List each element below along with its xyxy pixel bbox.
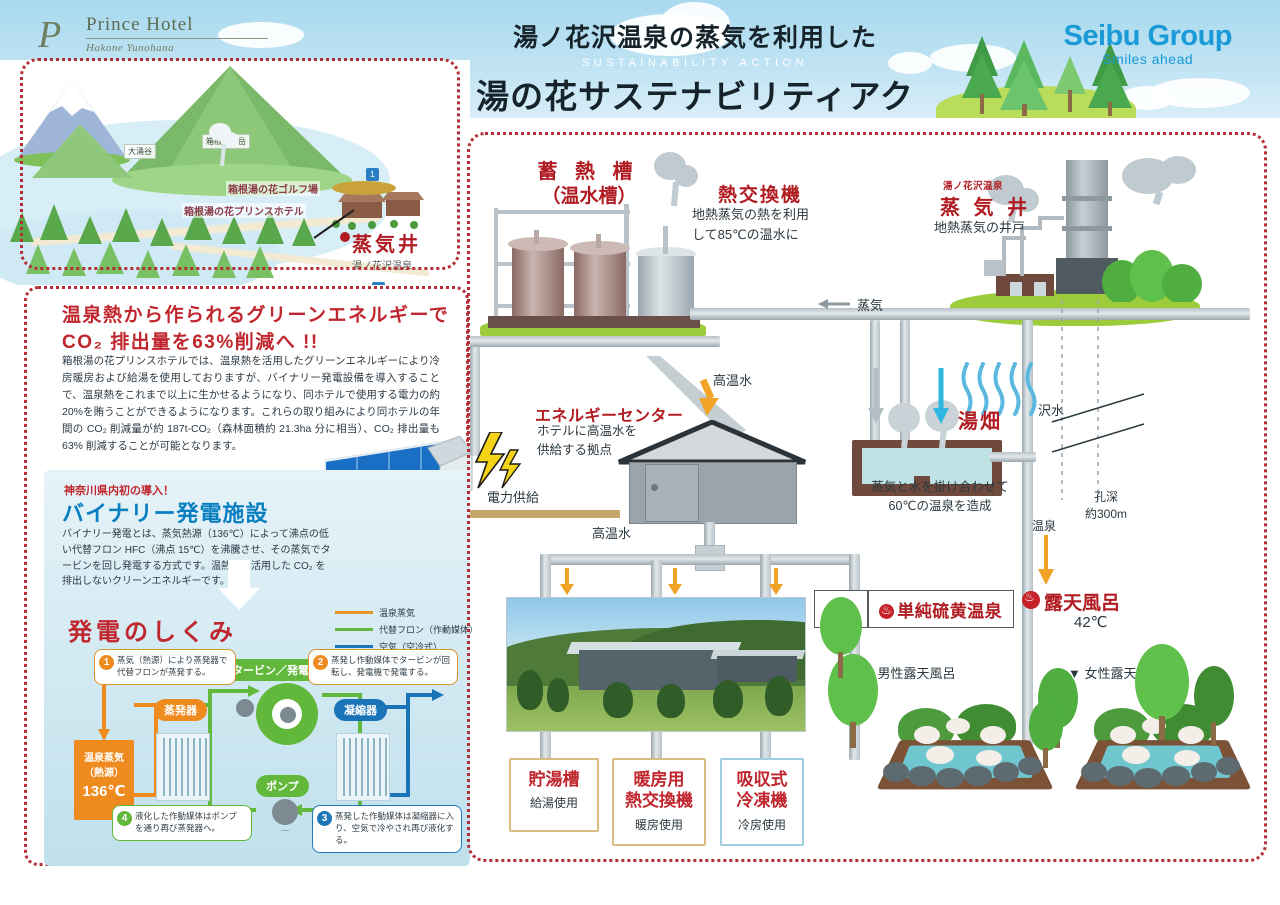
down-arrow-3-icon	[769, 584, 783, 595]
energy-center-sub-line-1: ホテルに高温水を	[537, 422, 637, 441]
title-subtitle-english: SUSTAINABILITY ACTION	[460, 57, 930, 69]
use-box-1-sub: 給湯使用	[511, 794, 597, 811]
tank-base	[488, 316, 700, 328]
binary-body-text: バイナリー発電とは、蒸気熱源（136℃）によって沸点の低い代替フロン HFC（沸…	[62, 527, 332, 590]
pump-icon	[264, 797, 298, 831]
down-arrow-stem	[228, 560, 250, 590]
prince-hotel-logo: P Prince Hotel Hakone Yunohana	[38, 14, 268, 56]
heat-exchanger-sub-line-2: して85℃の温水に	[692, 225, 809, 245]
cycle-step-4: 4 液化した作動媒体はポンプを通り再び蒸発器へ。	[112, 805, 252, 841]
energy-center-doorknob	[651, 484, 658, 491]
lightning-bolt-icon	[470, 432, 530, 490]
legend-label-steam: 温泉蒸気	[379, 606, 415, 619]
legend-swatch-steam	[335, 611, 373, 614]
cycle-step-2: 2 蒸発し作動媒体でタービンが回転し、発電機で発電する。	[308, 649, 458, 685]
evaporator-label: 蒸発器	[154, 699, 207, 721]
energy-center-roof-icon	[617, 420, 807, 466]
page-title: 湯ノ花沢温泉の蒸気を利用した SUSTAINABILITY ACTION 湯の花…	[460, 18, 930, 118]
seibu-logo-name: Seibu Group	[1064, 20, 1233, 53]
down-arrow-2-icon	[668, 584, 682, 595]
yubatake-sub-line-2: 60℃の温泉を造成	[840, 497, 1040, 516]
rotenburo-title: 露天風呂	[1044, 588, 1120, 615]
heat-storage-tanks	[488, 200, 688, 330]
how-it-works-title: 発電のしくみ	[68, 612, 237, 647]
turbine-shaft-icon	[236, 699, 254, 717]
pump-label: ポンプ	[256, 775, 309, 797]
use-box-absorption-chiller: 吸収式 冷凍機 冷房使用	[720, 758, 804, 846]
down-arrow-1-icon	[560, 584, 574, 595]
seibu-logo-tagline: Smiles ahead	[1064, 51, 1233, 67]
hotel-photo	[506, 597, 806, 732]
energy-center-building	[617, 420, 807, 530]
heat-exchanger-title: 熱交換機	[718, 180, 802, 207]
well-sub: 地熱蒸気の井戸	[934, 217, 1025, 236]
onsen-symbol-icon	[879, 604, 894, 619]
cycle-step-1-text: 蒸気（熱源）により蒸発器で代替フロンが蒸発する。	[117, 655, 227, 677]
energy-center-door	[645, 464, 699, 522]
cycle-step-1-number: 1	[99, 655, 114, 670]
steam-direction-arrow-icon	[818, 296, 852, 312]
prince-logo-mark: P	[38, 14, 61, 56]
binary-title: バイナリー発電施設	[62, 496, 269, 528]
down-arrow-head-icon	[218, 588, 260, 610]
yubatake-title: 湯畑	[958, 405, 1002, 434]
generator-rotor-icon	[280, 707, 296, 723]
prince-logo-name: Prince Hotel	[86, 14, 268, 39]
tank-title-line-2: （温水槽）	[519, 181, 659, 208]
use-box-2-title-2: 熱交換機	[614, 790, 704, 811]
cycle-step-3: 3 蒸発した作動媒体は凝縮器に入り、空気で冷やされ再び液化する。	[312, 805, 462, 853]
borehole-depth-indicator	[1046, 300, 1156, 520]
cycle-step-1: 1 蒸気（熱源）により蒸発器で代替フロンが蒸発する。	[94, 649, 236, 685]
heat-source-line-1: 温泉蒸気	[74, 752, 134, 767]
water-inflow-arrow-icon	[931, 368, 951, 428]
onsen-down-arrow-icon	[1036, 535, 1056, 587]
legend-label-freon: 代替フロン（作動媒体）	[379, 623, 478, 636]
well-kana-label: 湯ノ花沢温泉	[943, 178, 1003, 192]
cycle-step-4-text: 液化した作動媒体はポンプを通り再び蒸発器へ。	[135, 811, 237, 833]
co2-heading-line-1: 温泉熱から作られるグリーンエネルギーで	[62, 303, 452, 330]
heat-exchanger-sub-line-1: 地熱蒸気の熱を利用	[692, 205, 809, 225]
rotenburo-onsen-icon	[1022, 591, 1040, 609]
cycle-step-4-number: 4	[117, 811, 132, 826]
tank-title-line-1: 蓄 熱 槽	[528, 155, 648, 184]
steam-arrow-label: 蒸気	[857, 295, 883, 314]
pipe-distribution-horizontal	[540, 554, 860, 565]
use-box-1-title: 貯湯槽	[511, 769, 597, 790]
seibu-group-logo: Seibu Group Smiles ahead	[1064, 20, 1233, 67]
pipe-tank-horizontal	[470, 336, 720, 347]
steam-inflow-arrow-icon	[866, 368, 886, 428]
hole-depth-line-2: 約300m	[1085, 506, 1127, 523]
steam-cloud-2-icon	[1102, 152, 1212, 206]
heat-source-line-2: （熱源）	[74, 767, 134, 782]
use-box-storage-tank: 貯湯槽 給湯使用	[509, 758, 599, 832]
title-line-1: 湯ノ花沢温泉の蒸気を利用した	[460, 18, 930, 54]
cycle-step-2-number: 2	[313, 655, 328, 670]
heat-exchanger-sub: 地熱蒸気の熱を利用 して85℃の温水に	[692, 205, 809, 244]
condenser-label: 凝縮器	[334, 699, 387, 721]
well-title: 蒸 気 井	[940, 191, 1031, 220]
female-bath-tree-icon	[1026, 700, 1066, 770]
plant-bushes-icon	[1100, 248, 1210, 302]
bath-rocks-icon	[880, 754, 1050, 790]
power-generation-cycle-diagram: 温泉蒸気 （熱源） 136℃ 蒸発器 凝縮器 タービン／発電機 ポンプ 1 蒸気…	[60, 645, 480, 860]
heat-source-temp: 136℃	[74, 781, 134, 803]
co2-heading: 温泉熱から作られるグリーンエネルギーで CO₂ 排出量を63%削減へ !!	[62, 303, 452, 357]
title-line-2: 湯の花サステナビリティアクション	[460, 70, 930, 118]
condenser-unit	[336, 733, 390, 801]
power-supply-label: 電力供給	[487, 487, 539, 506]
bath-rocks-2-icon	[1078, 754, 1248, 790]
cycle-step-3-number: 3	[317, 811, 332, 826]
prince-logo-sub: Hakone Yunohana	[86, 42, 268, 54]
onsen-label: 温泉	[1032, 517, 1056, 534]
hole-depth-label: 孔深 約300m	[1085, 489, 1127, 524]
yubatake-outlet-pipe	[990, 452, 1036, 462]
steam-pipe-main	[690, 308, 1250, 320]
rotenburo-temperature: 42℃	[1074, 613, 1108, 631]
route-badge-2: 1	[372, 282, 385, 285]
spring-quality-value: 単純硫黄温泉	[897, 602, 1002, 621]
use-box-3-title-1: 吸収式	[722, 769, 802, 790]
male-outdoor-bath	[880, 700, 1050, 800]
use-box-3-title-2: 冷凍機	[722, 790, 802, 811]
cycle-step-2-text: 蒸発し作動媒体でタービンが回転し、発電機で発電する。	[331, 655, 450, 677]
decor-tree-icon	[818, 596, 864, 682]
legend-item-freon: 代替フロン（作動媒体）	[335, 623, 485, 636]
energy-center-sub: ホテルに高温水を 供給する拠点	[537, 422, 637, 460]
use-box-3-sub: 冷房使用	[722, 816, 802, 833]
legend-item-steam: 温泉蒸気	[335, 606, 485, 619]
hot-water-label-2: 高温水	[592, 523, 631, 542]
female-bath-tree-2-icon	[1132, 640, 1192, 740]
yubatake-sub: 蒸気と水を掛け合わせて 60℃の温泉を造成	[840, 478, 1040, 516]
energy-center-sub-line-2: 供給する拠点	[537, 441, 637, 460]
map-frame-border	[20, 58, 460, 270]
hole-depth-line-1: 孔深	[1085, 489, 1127, 506]
yubatake-sub-line-1: 蒸気と水を掛け合わせて	[840, 478, 1040, 497]
hot-water-arrow-1-icon	[697, 378, 723, 418]
female-bath-tree-3-icon	[1192, 664, 1236, 748]
evaporator-unit	[156, 733, 210, 801]
power-supply-line	[470, 510, 620, 518]
legend-swatch-freon	[335, 628, 373, 631]
tank-lids-icon	[508, 226, 708, 256]
use-box-2-sub: 暖房使用	[614, 816, 704, 833]
spring-quality-value-wrap: 単純硫黄温泉	[869, 597, 1014, 622]
use-box-2-title-1: 暖房用	[614, 769, 704, 790]
cycle-step-3-text: 蒸発した作動媒体は凝縮器に入り、空気で冷やされ再び液化する。	[335, 811, 454, 845]
use-box-heating-exchanger: 暖房用 熱交換機 暖房使用	[612, 758, 706, 846]
